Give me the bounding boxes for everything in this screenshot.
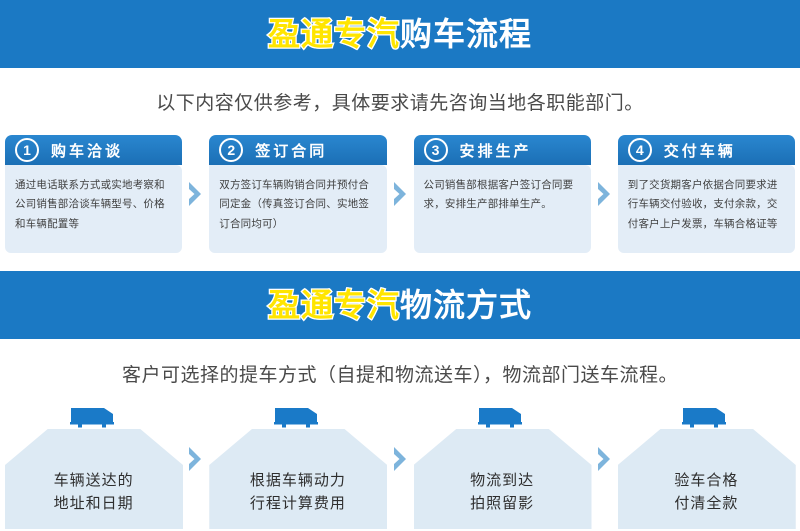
step-card-3[interactable]: 3 安排生产 公司销售部根据客户签订合同要求，安排生产部排单生产。	[414, 135, 591, 253]
logistics-card-3[interactable]: 物流到达 拍照留影	[414, 403, 591, 529]
truck-icon	[477, 405, 527, 431]
truck-icon	[69, 405, 119, 431]
step-number-badge-3: 3	[424, 138, 448, 162]
logistics-card-line1-3: 物流到达	[414, 469, 591, 492]
purchase-headline: 购车流程	[400, 16, 532, 52]
step-card-1[interactable]: 1 购车洽谈 通过电话联系方式或实地考察和公司销售部洽谈车辆型号、价格和车辆配置…	[5, 135, 182, 253]
step-arrow-3	[591, 135, 618, 253]
logistics-card-text-3: 物流到达 拍照留影	[414, 469, 591, 516]
logistics-card-line1-1: 车辆送达的	[5, 469, 182, 492]
step-title-3: 安排生产	[460, 140, 532, 161]
purchase-banner: 盈通专汽购车流程	[0, 0, 800, 68]
step-header-3: 3 安排生产	[414, 135, 591, 165]
brand-name-purchase: 盈通专汽	[268, 16, 400, 52]
logistics-card-2[interactable]: 根据车辆动力 行程计算费用	[209, 403, 386, 529]
purchase-lead-text: 以下内容仅供参考，具体要求请先咨询当地各职能部门。	[0, 94, 800, 113]
step-arrow-2	[387, 135, 414, 253]
logistics-arrow-1	[182, 403, 209, 529]
truck-icon	[681, 405, 731, 431]
chevron-right-icon	[187, 181, 204, 207]
step-card-2[interactable]: 2 签订合同 双方签订车辆购销合同并预付合同定金（传真签订合同、实地签订合同均可…	[209, 135, 386, 253]
logistics-card-1[interactable]: 车辆送达的 地址和日期	[5, 403, 182, 529]
step-title-4: 交付车辆	[664, 140, 736, 161]
step-title-2: 签订合同	[255, 140, 327, 161]
step-body-2: 双方签订车辆购销合同并预付合同定金（传真签订合同、实地签订合同均可）	[209, 165, 386, 253]
step-header-4: 4 交付车辆	[618, 135, 795, 165]
step-number-badge-1: 1	[15, 138, 39, 162]
step-number-badge-4: 4	[628, 138, 652, 162]
chevron-right-icon	[596, 446, 613, 472]
logistics-card-text-4: 验车合格 付清全款	[618, 469, 795, 516]
step-body-1: 通过电话联系方式或实地考察和公司销售部洽谈车辆型号、价格和车辆配置等	[5, 165, 182, 253]
step-header-1: 1 购车洽谈	[5, 135, 182, 165]
logistics-banner-title: 盈通专汽物流方式	[268, 289, 532, 321]
logistics-card-line2-1: 地址和日期	[5, 492, 182, 515]
logistics-arrow-2	[387, 403, 414, 529]
logistics-card-line1-2: 根据车辆动力	[209, 469, 386, 492]
step-header-2: 2 签订合同	[209, 135, 386, 165]
step-card-4[interactable]: 4 交付车辆 到了交货期客户依据合同要求进行车辆交付验收，支付余款，交付客户上户…	[618, 135, 795, 253]
logistics-card-line1-4: 验车合格	[618, 469, 795, 492]
step-body-3: 公司销售部根据客户签订合同要求，安排生产部排单生产。	[414, 165, 591, 253]
step-number-badge-2: 2	[219, 138, 243, 162]
chevron-right-icon	[596, 181, 613, 207]
purchase-banner-title: 盈通专汽购车流程	[268, 18, 532, 50]
logistics-cards-row: 车辆送达的 地址和日期 根据车辆动力 行程计算费用	[0, 403, 800, 529]
step-arrow-1	[182, 135, 209, 253]
logistics-arrow-3	[591, 403, 618, 529]
logistics-card-line2-4: 付清全款	[618, 492, 795, 515]
logistics-card-text-2: 根据车辆动力 行程计算费用	[209, 469, 386, 516]
logistics-card-4[interactable]: 验车合格 付清全款	[618, 403, 795, 529]
purchase-steps-row: 1 购车洽谈 通过电话联系方式或实地考察和公司销售部洽谈车辆型号、价格和车辆配置…	[0, 135, 800, 253]
logistics-card-text-1: 车辆送达的 地址和日期	[5, 469, 182, 516]
logistics-card-line2-2: 行程计算费用	[209, 492, 386, 515]
logistics-banner: 盈通专汽物流方式	[0, 271, 800, 339]
chevron-right-icon	[392, 446, 409, 472]
step-body-4: 到了交货期客户依据合同要求进行车辆交付验收，支付余款，交付客户上户发票，车辆合格…	[618, 165, 795, 253]
chevron-right-icon	[187, 446, 204, 472]
logistics-lead-text: 客户可选择的提车方式（自提和物流送车），物流部门送车流程。	[0, 366, 800, 385]
step-title-1: 购车洽谈	[51, 140, 123, 161]
logistics-card-line2-3: 拍照留影	[414, 492, 591, 515]
brand-name-logistics: 盈通专汽	[268, 287, 400, 323]
chevron-right-icon	[392, 181, 409, 207]
truck-icon	[273, 405, 323, 431]
logistics-headline: 物流方式	[400, 287, 532, 323]
